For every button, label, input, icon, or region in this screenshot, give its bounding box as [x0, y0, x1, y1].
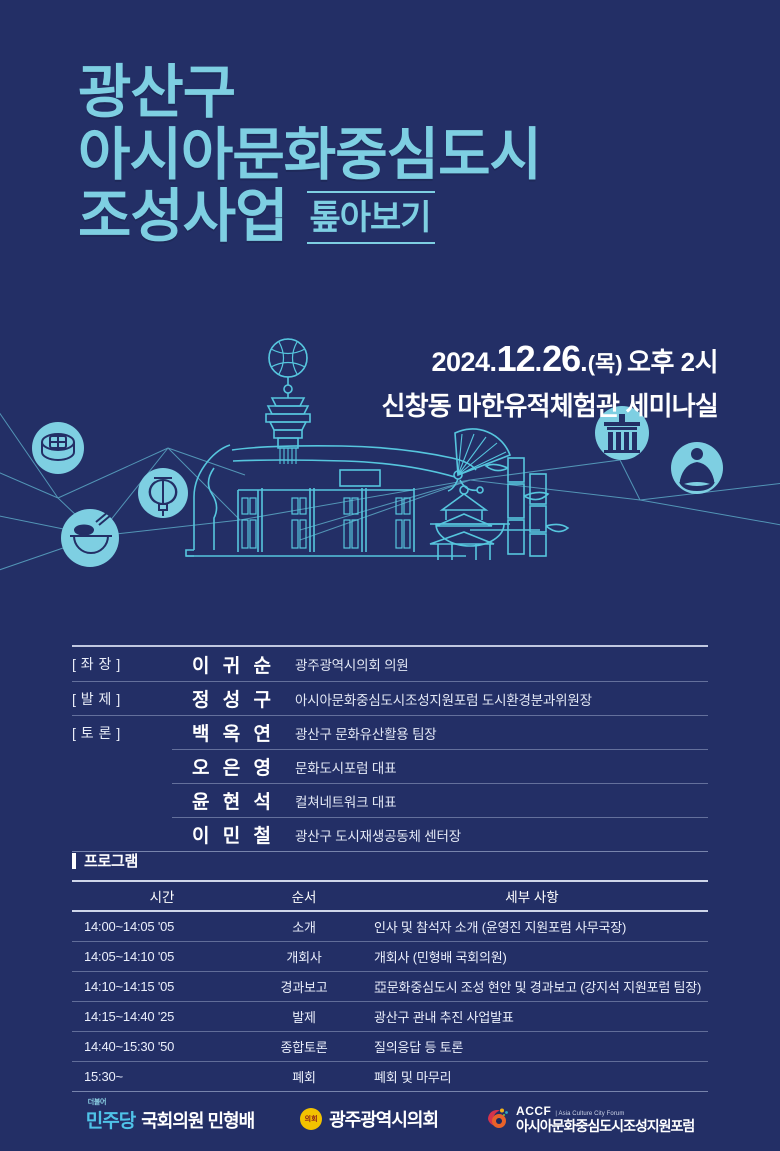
title-line-2: 아시아문화중심도시	[78, 124, 738, 186]
event-sep-1: .	[535, 347, 543, 377]
speaker-row: [ 좌 장 ]이 귀 순광주광역시의회 의원	[72, 647, 708, 681]
dp-text: 국회의원 민형배	[141, 1107, 254, 1133]
event-day: 26	[542, 338, 580, 379]
title-line-1: 광산구	[78, 62, 738, 124]
speakers-table: [ 좌 장 ]이 귀 순광주광역시의회 의원[ 발 제 ]정 성 구아시아문화중…	[72, 645, 708, 852]
program-time: 15:30~	[72, 1061, 252, 1091]
program-heading: 프로그램	[72, 850, 708, 871]
title-subtitle-badge: 톺아보기	[305, 191, 434, 244]
event-month: 12	[497, 338, 535, 379]
program-time: 14:10~14:15 '05	[72, 971, 252, 1001]
event-date-line: 2024.12.26.(목) 오후 2시	[381, 338, 718, 380]
logo-gwangju-council: 의회 광주광역시의회	[300, 1106, 438, 1132]
program-row: 15:30~폐회폐회 및 마무리	[72, 1061, 708, 1091]
speaker-name: 백 옥 연	[172, 719, 277, 746]
speaker-affiliation: 컬쳐네트워크 대표	[277, 791, 708, 811]
program-header-row: 시간 순서 세부 사항	[72, 881, 708, 911]
title-line-3: 조성사업	[78, 186, 287, 248]
event-year: 2024.	[431, 347, 496, 377]
accf-mark-icon	[484, 1106, 510, 1132]
bowl-icon	[61, 509, 119, 567]
speaker-affiliation: 아시아문화중심도시조성지원포럼 도시환경분과위원장	[277, 689, 708, 709]
bamboo-icon	[486, 458, 568, 556]
program-time: 14:15~14:40 '25	[72, 1001, 252, 1031]
council-emblem-icon: 의회	[300, 1108, 322, 1130]
logo-accf: ACCF | Asia Culture City Forum 아시아문화중심도시…	[484, 1105, 694, 1133]
program-time: 14:40~15:30 '50	[72, 1031, 252, 1061]
program-detail: 질의응답 등 토론	[356, 1031, 708, 1061]
program-col-time: 시간	[72, 881, 252, 911]
poster-title-block: 광산구 아시아문화중심도시 조성사업 톺아보기	[78, 62, 738, 248]
program-order: 종합토론	[252, 1031, 356, 1061]
speaker-affiliation: 광주광역시의회 의원	[277, 654, 708, 674]
program-detail: 폐회 및 마무리	[356, 1061, 708, 1091]
program-heading-label: 프로그램	[84, 850, 138, 871]
speaker-name: 정 성 구	[172, 685, 277, 712]
event-sep-2: .	[580, 347, 588, 377]
program-detail: 개회사 (민형배 국회의원)	[356, 941, 708, 971]
program-detail: 광산구 관내 추진 사업발표	[356, 1001, 708, 1031]
speaker-name: 이 민 철	[172, 821, 277, 848]
program-row: 14:05~14:10 '05개회사개회사 (민형배 국회의원)	[72, 941, 708, 971]
sushi-icon	[32, 422, 84, 474]
program-detail: 亞문화중심도시 조성 현안 및 경과보고 (강지석 지원포럼 팀장)	[356, 971, 708, 1001]
speaker-affiliation: 문화도시포럼 대표	[277, 757, 708, 777]
program-order: 발제	[252, 1001, 356, 1031]
title-line-3-row: 조성사업 톺아보기	[78, 186, 738, 248]
program-col-detail: 세부 사항	[356, 881, 708, 911]
meditation-icon	[671, 442, 723, 494]
program-section: 프로그램 시간 순서 세부 사항 14:00~14:05 '05소개인사 및 참…	[72, 850, 708, 1092]
speaker-row: 이 민 철광산구 도시재생공동체 센터장	[72, 817, 708, 851]
speaker-row: 윤 현 석컬쳐네트워크 대표	[72, 783, 708, 817]
program-row: 14:00~14:05 '05소개인사 및 참석자 소개 (윤영진 지원포럼 사…	[72, 911, 708, 941]
event-time: 오후 2시	[627, 347, 718, 377]
dp-prefix: 더불어	[88, 1097, 106, 1107]
fan-icon	[448, 429, 510, 493]
council-emblem-label: 의회	[305, 1114, 318, 1124]
heading-bar-icon	[72, 853, 76, 869]
title-subtitle: 톺아보기	[309, 200, 430, 236]
speaker-role: [ 발 제 ]	[72, 689, 172, 709]
event-poster: 광산구 아시아문화중심도시 조성사업 톺아보기 2024.12.26.(목) 오…	[0, 0, 780, 1151]
speaker-name: 윤 현 석	[172, 787, 277, 814]
event-datetime-block: 2024.12.26.(목) 오후 2시 신창동 마한유적체험관 세미나실	[381, 338, 718, 423]
event-weekday: (목)	[588, 351, 623, 376]
speakers-top-rule	[72, 645, 708, 647]
program-table: 시간 순서 세부 사항 14:00~14:05 '05소개인사 및 참석자 소개…	[72, 880, 708, 1092]
event-venue: 신창동 마한유적체험관 세미나실	[381, 386, 718, 423]
speaker-name: 이 귀 순	[172, 651, 277, 678]
speaker-row: [ 토 론 ]백 옥 연광산구 문화유산활용 팀장	[72, 715, 708, 749]
program-row: 14:10~14:15 '05경과보고亞문화중심도시 조성 현안 및 경과보고 …	[72, 971, 708, 1001]
program-row: 14:40~15:30 '50종합토론질의응답 등 토론	[72, 1031, 708, 1061]
speaker-affiliation: 광산구 문화유산활용 팀장	[277, 723, 708, 743]
program-time: 14:05~14:10 '05	[72, 941, 252, 971]
accf-acronym: ACCF	[516, 1105, 551, 1117]
accf-english: | Asia Culture City Forum	[555, 1111, 624, 1117]
council-text: 광주광역시의회	[329, 1106, 438, 1132]
speaker-role: [ 토 론 ]	[72, 723, 172, 743]
lantern-icon	[138, 468, 188, 518]
program-order: 경과보고	[252, 971, 356, 1001]
program-row: 14:15~14:40 '25발제광산구 관내 추진 사업발표	[72, 1001, 708, 1031]
logo-democratic-party: 더불어 민주당 국회의원 민형배	[86, 1106, 254, 1133]
program-order: 폐회	[252, 1061, 356, 1091]
speaker-row: [ 발 제 ]정 성 구아시아문화중심도시조성지원포럼 도시환경분과위원장	[72, 681, 708, 715]
program-col-order: 순서	[252, 881, 356, 911]
speaker-affiliation: 광산구 도시재생공동체 센터장	[277, 825, 708, 845]
speaker-role: [ 좌 장 ]	[72, 654, 172, 674]
speaker-name: 오 은 영	[172, 753, 277, 780]
program-order: 개회사	[252, 941, 356, 971]
program-time: 14:00~14:05 '05	[72, 911, 252, 941]
program-order: 소개	[252, 911, 356, 941]
program-detail: 인사 및 참석자 소개 (윤영진 지원포럼 사무국장)	[356, 911, 708, 941]
footer-logos: 더불어 민주당 국회의원 민형배 의회 광주광역시의회	[0, 1105, 780, 1133]
speaker-row: 오 은 영문화도시포럼 대표	[72, 749, 708, 783]
dp-brand: 민주당	[86, 1106, 135, 1133]
accf-korean: 아시아문화중심도시조성지원포럼	[516, 1119, 694, 1133]
